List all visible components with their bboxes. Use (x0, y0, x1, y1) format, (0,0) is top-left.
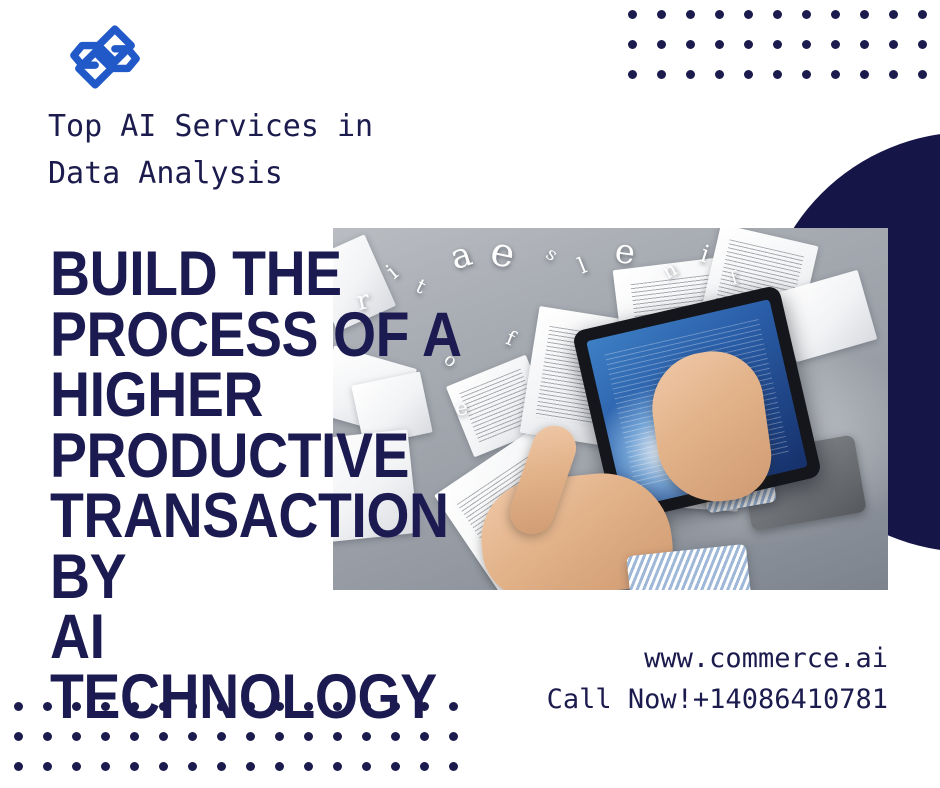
decorative-dot (686, 40, 695, 49)
decorative-dot (420, 732, 429, 741)
decorative-dot (130, 762, 139, 771)
decorative-dot (744, 10, 753, 19)
decorative-dot (860, 70, 869, 79)
decorative-dot (889, 70, 898, 79)
decorative-dot (802, 10, 811, 19)
website-url[interactable]: www.commerce.ai (547, 638, 888, 679)
decorative-dot (657, 40, 666, 49)
decorative-dot (246, 762, 255, 771)
decorative-dot (449, 762, 458, 771)
decorative-dot (304, 762, 313, 771)
decorative-dot (628, 40, 637, 49)
decorative-dot (333, 762, 342, 771)
decorative-dot (889, 10, 898, 19)
decorative-dot (773, 40, 782, 49)
decorative-dot (14, 762, 23, 771)
decorative-dot (275, 762, 284, 771)
decorative-dot (275, 732, 284, 741)
decorative-dot (43, 732, 52, 741)
phone-number[interactable]: Call Now!+14086410781 (547, 679, 888, 720)
decorative-dot (831, 70, 840, 79)
decorative-dot (159, 762, 168, 771)
decorative-dot (362, 732, 371, 741)
decorative-dot (43, 762, 52, 771)
decorative-dot (802, 70, 811, 79)
decorative-dot (628, 70, 637, 79)
decorative-dot (773, 70, 782, 79)
decorative-dot (217, 732, 226, 741)
decorative-dot (744, 70, 753, 79)
decorative-dot (420, 762, 429, 771)
decorative-dot (72, 732, 81, 741)
decorative-dot (362, 762, 371, 771)
dot-grid-top-right (628, 10, 940, 100)
decorative-dot (715, 40, 724, 49)
decorative-dot (449, 732, 458, 741)
commerce-c-logo-icon[interactable] (64, 16, 146, 98)
decorative-dot (14, 732, 23, 741)
page-title: BUILD THE PROCESS OF A HIGHER PRODUCTIVE… (50, 244, 464, 728)
decorative-dot (246, 732, 255, 741)
decorative-dot (159, 732, 168, 741)
decorative-dot (918, 10, 927, 19)
decorative-dot (918, 40, 927, 49)
decorative-dot (715, 10, 724, 19)
decorative-dot (686, 10, 695, 19)
decorative-dot (860, 10, 869, 19)
decorative-dot (14, 702, 23, 711)
decorative-dot (628, 10, 637, 19)
decorative-dot (333, 732, 342, 741)
decorative-dot (130, 732, 139, 741)
decorative-dot (101, 732, 110, 741)
promotional-banner: Top AI Services in Data Analysis a e i t… (0, 0, 940, 788)
decorative-dot (715, 70, 724, 79)
decorative-dot (773, 10, 782, 19)
decorative-dot (391, 732, 400, 741)
decorative-dot (72, 762, 81, 771)
decorative-dot (802, 40, 811, 49)
decorative-dot (188, 762, 197, 771)
decorative-dot (304, 732, 313, 741)
decorative-dot (188, 732, 197, 741)
decorative-dot (657, 10, 666, 19)
decorative-dot (918, 70, 927, 79)
decorative-dot (101, 762, 110, 771)
decorative-dot (860, 40, 869, 49)
decorative-dot (744, 40, 753, 49)
decorative-dot (889, 40, 898, 49)
decorative-dot (657, 70, 666, 79)
decorative-dot (391, 762, 400, 771)
contact-block: www.commerce.ai Call Now!+14086410781 (547, 638, 888, 720)
decorative-dot (831, 10, 840, 19)
eyebrow-subtitle: Top AI Services in Data Analysis (48, 104, 468, 197)
decorative-dot (217, 762, 226, 771)
decorative-dot (831, 40, 840, 49)
decorative-dot (686, 70, 695, 79)
